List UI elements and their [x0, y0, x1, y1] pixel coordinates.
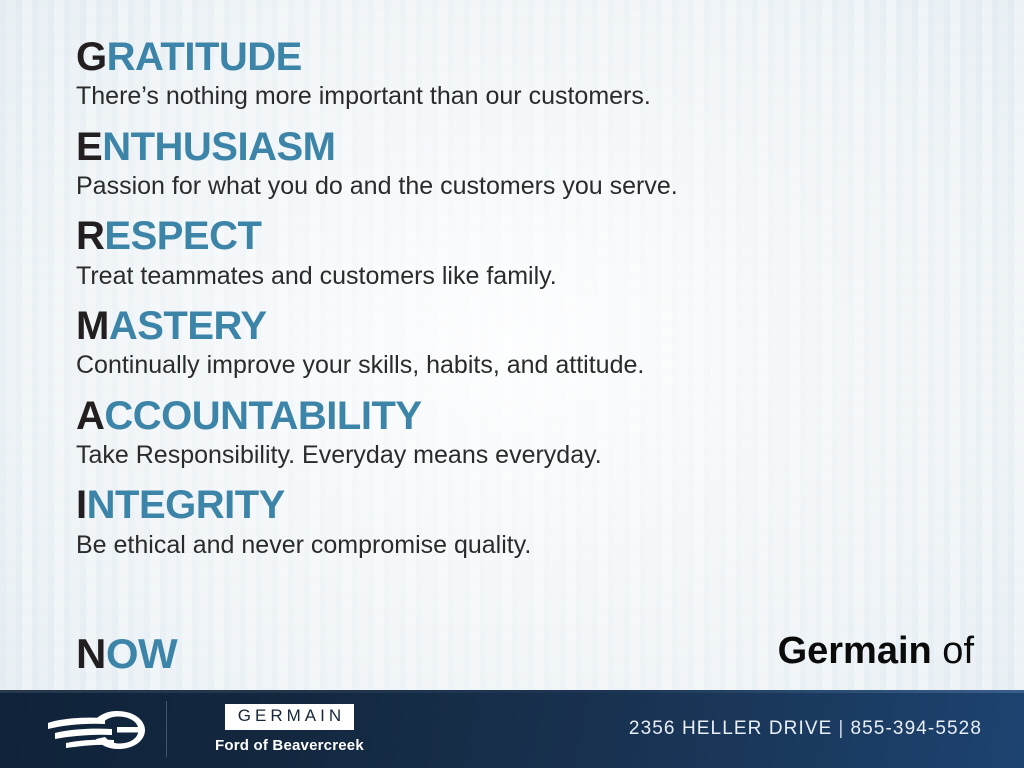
value-description: Be ethical and never compromise quality. — [76, 530, 976, 561]
value-word-rest: ESPECT — [104, 214, 261, 258]
value-word-rest: ASTERY — [109, 304, 267, 348]
value-word: INTEGRITY — [76, 484, 976, 527]
now-and-brand-row: NOW Germain of — [76, 632, 996, 676]
value-initial: R — [76, 214, 104, 258]
value-item-mastery: MASTERY Continually improve your skills,… — [76, 305, 976, 381]
value-word-rest: NTHUSIASM — [102, 125, 335, 169]
value-description: There’s nothing more important than our … — [76, 81, 976, 112]
value-word-rest: NTEGRITY — [87, 483, 285, 527]
value-item-gratitude: GRATITUDE There’s nothing more important… — [76, 36, 976, 112]
core-values-list: GRATITUDE There’s nothing more important… — [76, 36, 976, 574]
footer-contact-info: 2356 HELLER DRIVE|855-394-5528 — [629, 718, 982, 740]
value-item-enthusiasm: ENTHUSIASM Passion for what you do and t… — [76, 126, 976, 202]
value-initial: E — [76, 125, 102, 169]
germain-wordmark: GERMAIN — [225, 704, 354, 729]
brand-of-word: of — [932, 630, 974, 672]
now-acronym: NOW — [76, 632, 177, 676]
germain-dealer-lockup: GERMAIN Ford of Beavercreek — [215, 704, 364, 753]
footer-phone[interactable]: 855-394-5528 — [850, 718, 982, 739]
value-word: ACCOUNTABILITY — [76, 395, 976, 438]
value-word: GRATITUDE — [76, 36, 976, 79]
value-word: ENTHUSIASM — [76, 126, 976, 169]
dealer-name: Ford of Beavercreek — [215, 737, 364, 754]
value-word-rest: CCOUNTABILITY — [104, 394, 421, 438]
value-item-accountability: ACCOUNTABILITY Take Responsibility. Ever… — [76, 395, 976, 471]
slide-canvas: GRATITUDE There’s nothing more important… — [0, 0, 1024, 768]
germain-wing-g-icon — [42, 703, 146, 755]
value-word: MASTERY — [76, 305, 976, 348]
value-description: Take Responsibility. Everyday means ever… — [76, 440, 976, 471]
value-item-integrity: INTEGRITY Be ethical and never compromis… — [76, 484, 976, 560]
footer-bar: GERMAIN Ford of Beavercreek 2356 HELLER … — [0, 690, 1024, 768]
value-initial: G — [76, 35, 107, 79]
value-description: Treat teammates and customers like famil… — [76, 261, 976, 292]
footer-top-highlight — [0, 690, 1024, 693]
value-word-rest: RATITUDE — [107, 35, 302, 79]
value-description: Passion for what you do and the customer… — [76, 171, 976, 202]
value-item-respect: RESPECT Treat teammates and customers li… — [76, 215, 976, 291]
now-rest: OW — [106, 630, 177, 677]
value-initial: I — [76, 483, 87, 527]
footer-address: 2356 HELLER DRIVE — [629, 718, 833, 739]
value-description: Continually improve your skills, habits,… — [76, 350, 976, 381]
value-initial: M — [76, 304, 109, 348]
footer-divider — [166, 701, 167, 757]
now-initial: N — [76, 630, 106, 677]
value-word: RESPECT — [76, 215, 976, 258]
footer-separator: | — [832, 718, 850, 739]
brand-name: Germain — [778, 630, 932, 672]
brand-lockup: Germain of — [778, 632, 974, 672]
value-initial: A — [76, 394, 104, 438]
